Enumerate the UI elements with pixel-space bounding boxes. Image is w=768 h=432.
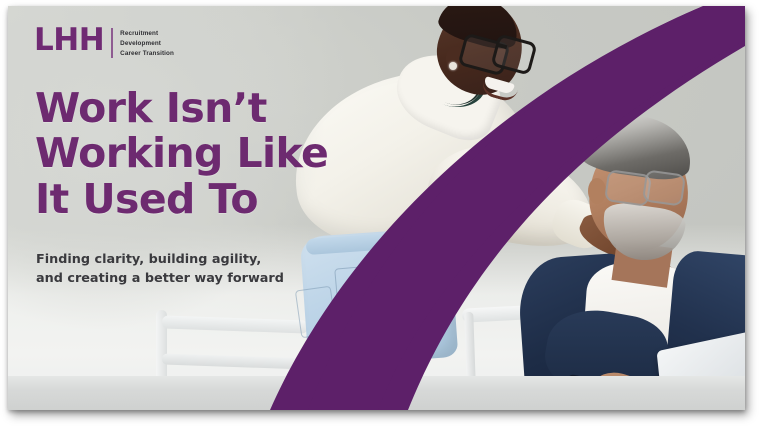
headline-line-2: Working Like <box>35 131 340 177</box>
marketing-slide-card: LHH Recruitment Development Career Trans… <box>8 6 745 410</box>
logo-divider-rule <box>111 28 113 58</box>
subheadline-line-2: and creating a better way forward <box>36 270 340 289</box>
lhh-logo-wordmark: LHH <box>34 26 104 55</box>
headline-line-3: It Used To <box>35 177 340 223</box>
subheadline-line-1: Finding clarity, building agility, <box>36 251 340 270</box>
slide-copy-block: LHH Recruitment Development Career Trans… <box>30 18 340 301</box>
slide-headline: Work Isn’t Working Like It Used To <box>35 86 340 224</box>
lhh-logo-tagline: Recruitment Development Career Transitio… <box>120 26 174 60</box>
slide-stage: LHH Recruitment Development Career Trans… <box>0 0 768 432</box>
tagline-line-2: Development <box>120 39 174 49</box>
tagline-line-3: Career Transition <box>120 49 174 59</box>
slide-subheadline: Finding clarity, building agility, and c… <box>36 251 340 289</box>
lhh-logo[interactable]: LHH Recruitment Development Career Trans… <box>34 26 340 60</box>
headline-line-1: Work Isn’t <box>35 86 340 132</box>
tagline-line-1: Recruitment <box>120 29 174 39</box>
